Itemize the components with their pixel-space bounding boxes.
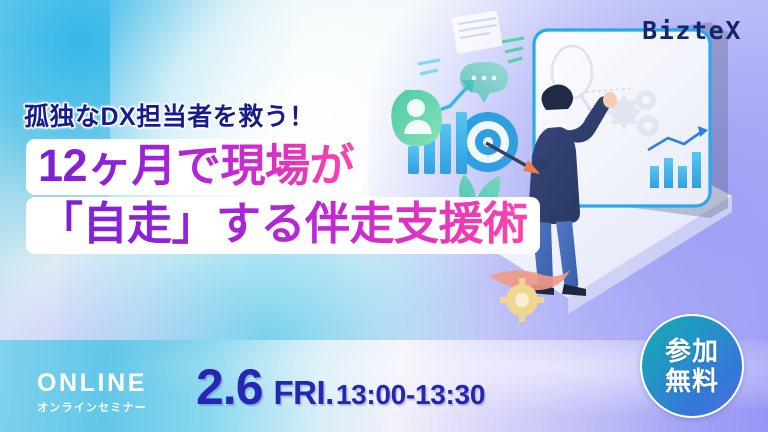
webinar-banner: BizteX 孤独なDX担当者を救う！ 12ヶ月で現場が 「自走」する伴走支援術… xyxy=(0,0,768,432)
hero-title: 12ヶ月で現場が 「自走」する伴走支援術 xyxy=(26,139,540,254)
document-icon xyxy=(451,10,503,53)
badge-line-1: 参加 xyxy=(665,336,719,366)
event-day-of-week: FRI. xyxy=(274,376,334,409)
chat-bubble-icon xyxy=(460,62,508,103)
event-date-block: 2.6 FRI. 13:00-13:30 xyxy=(196,362,485,412)
hero-title-line-1: 12ヶ月で現場が xyxy=(26,139,364,195)
event-date: 2.6 xyxy=(196,362,263,412)
hero-title-line-1-text: 12ヶ月で現場が xyxy=(38,140,354,191)
person-icon xyxy=(391,90,442,146)
badge-line-2: 無料 xyxy=(665,366,719,396)
event-time: 13:00-13:30 xyxy=(336,381,485,409)
online-label-block: ONLINE オンラインセミナー xyxy=(22,370,162,415)
brand-logo: BizteX xyxy=(642,16,742,45)
hero-title-line-2-text: 「自走」する伴走支援術 xyxy=(38,198,528,249)
hero-title-line-2: 「自走」する伴走支援術 xyxy=(26,197,540,253)
bottom-gears-icon xyxy=(490,270,570,322)
free-participation-badge[interactable]: 参加 無料 xyxy=(640,314,744,418)
online-label: ONLINE xyxy=(22,370,162,396)
online-sublabel: オンラインセミナー xyxy=(22,399,162,415)
hero-kicker: 孤独なDX担当者を救う！ xyxy=(24,97,315,133)
